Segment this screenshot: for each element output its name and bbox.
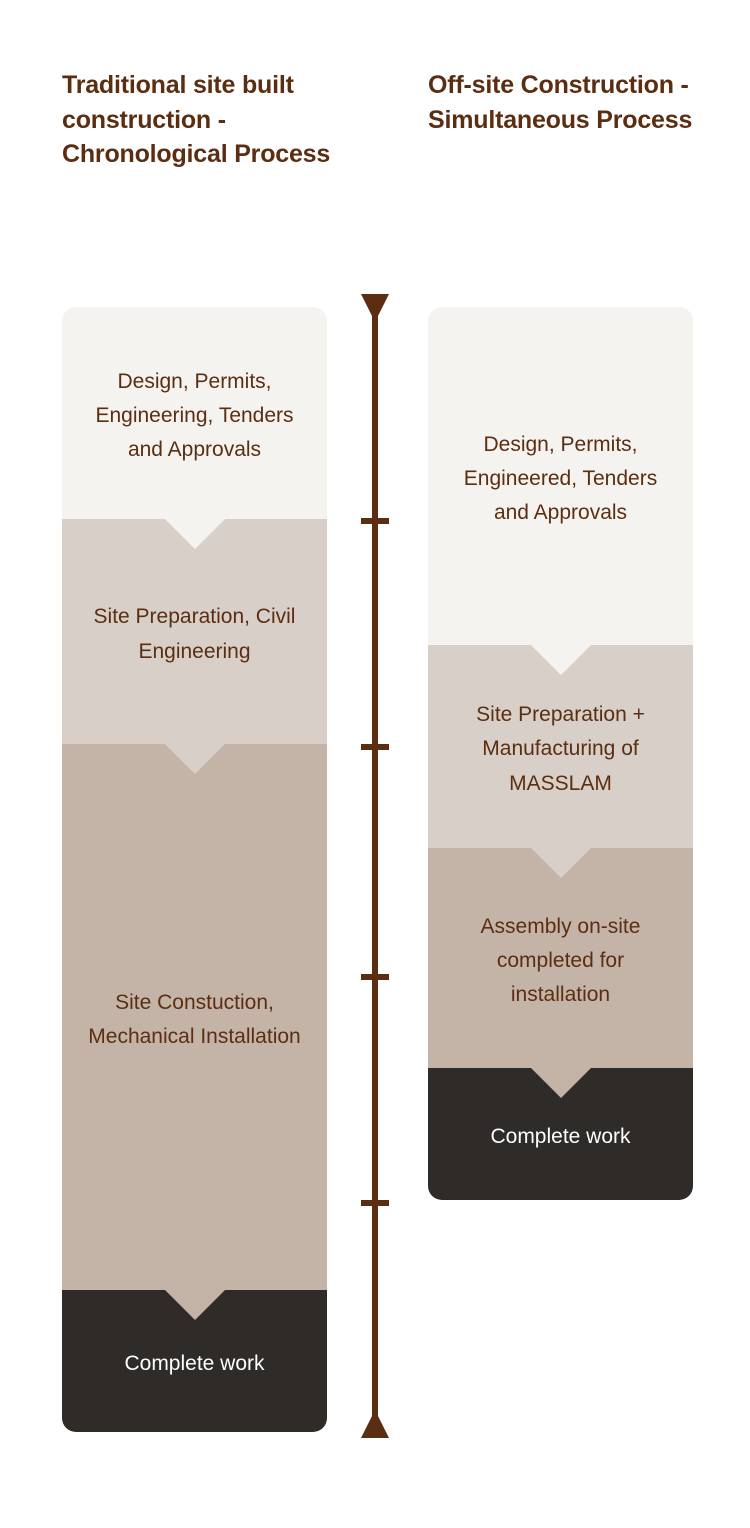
stage-label: Assembly on-site completed for installat… [446,910,675,1012]
chevron-down-icon [165,1290,225,1320]
stage-label: Design, Permits, Engineered, Tenders and… [446,428,675,530]
chevron-down-icon [531,645,591,675]
axis-tick [361,744,389,750]
stage-block: Design, Permits, Engineered, Tenders and… [428,307,693,645]
axis-tick [361,518,389,524]
stage-label: Site Constuction, Mechanical Installatio… [80,986,309,1054]
stage-block: Site Preparation + Manufacturing of MASS… [428,645,693,848]
traditional-process-column: Design, Permits, Engineering, Tenders an… [62,307,327,1432]
arrow-up-icon [361,1410,389,1438]
stage-block: Complete work [62,1290,327,1432]
stage-label: Complete work [490,1120,630,1154]
axis-tick [361,1200,389,1206]
stage-label: Site Preparation, Civil Engineering [80,600,309,668]
stage-label: Design, Permits, Engineering, Tenders an… [80,365,309,467]
right-column-title: Off-site Construction - Simultaneous Pro… [428,68,708,137]
chevron-down-icon [165,519,225,549]
arrow-down-icon [361,294,389,322]
axis-shaft [372,306,378,1426]
stage-block: Assembly on-site completed for installat… [428,848,693,1068]
chevron-down-icon [165,744,225,774]
chevron-down-icon [531,848,591,878]
stage-block: Site Constuction, Mechanical Installatio… [62,744,327,1290]
stage-block: Site Preparation, Civil Engineering [62,519,327,744]
stage-block: Complete work [428,1068,693,1200]
timeline-axis [361,292,389,1440]
chevron-down-icon [531,1068,591,1098]
stage-label: Complete work [124,1347,264,1381]
axis-tick [361,974,389,980]
stage-label: Site Preparation + Manufacturing of MASS… [446,698,675,800]
stage-block: Design, Permits, Engineering, Tenders an… [62,307,327,519]
offsite-process-column: Design, Permits, Engineered, Tenders and… [428,307,693,1200]
left-column-title: Traditional site built construction - Ch… [62,68,362,172]
